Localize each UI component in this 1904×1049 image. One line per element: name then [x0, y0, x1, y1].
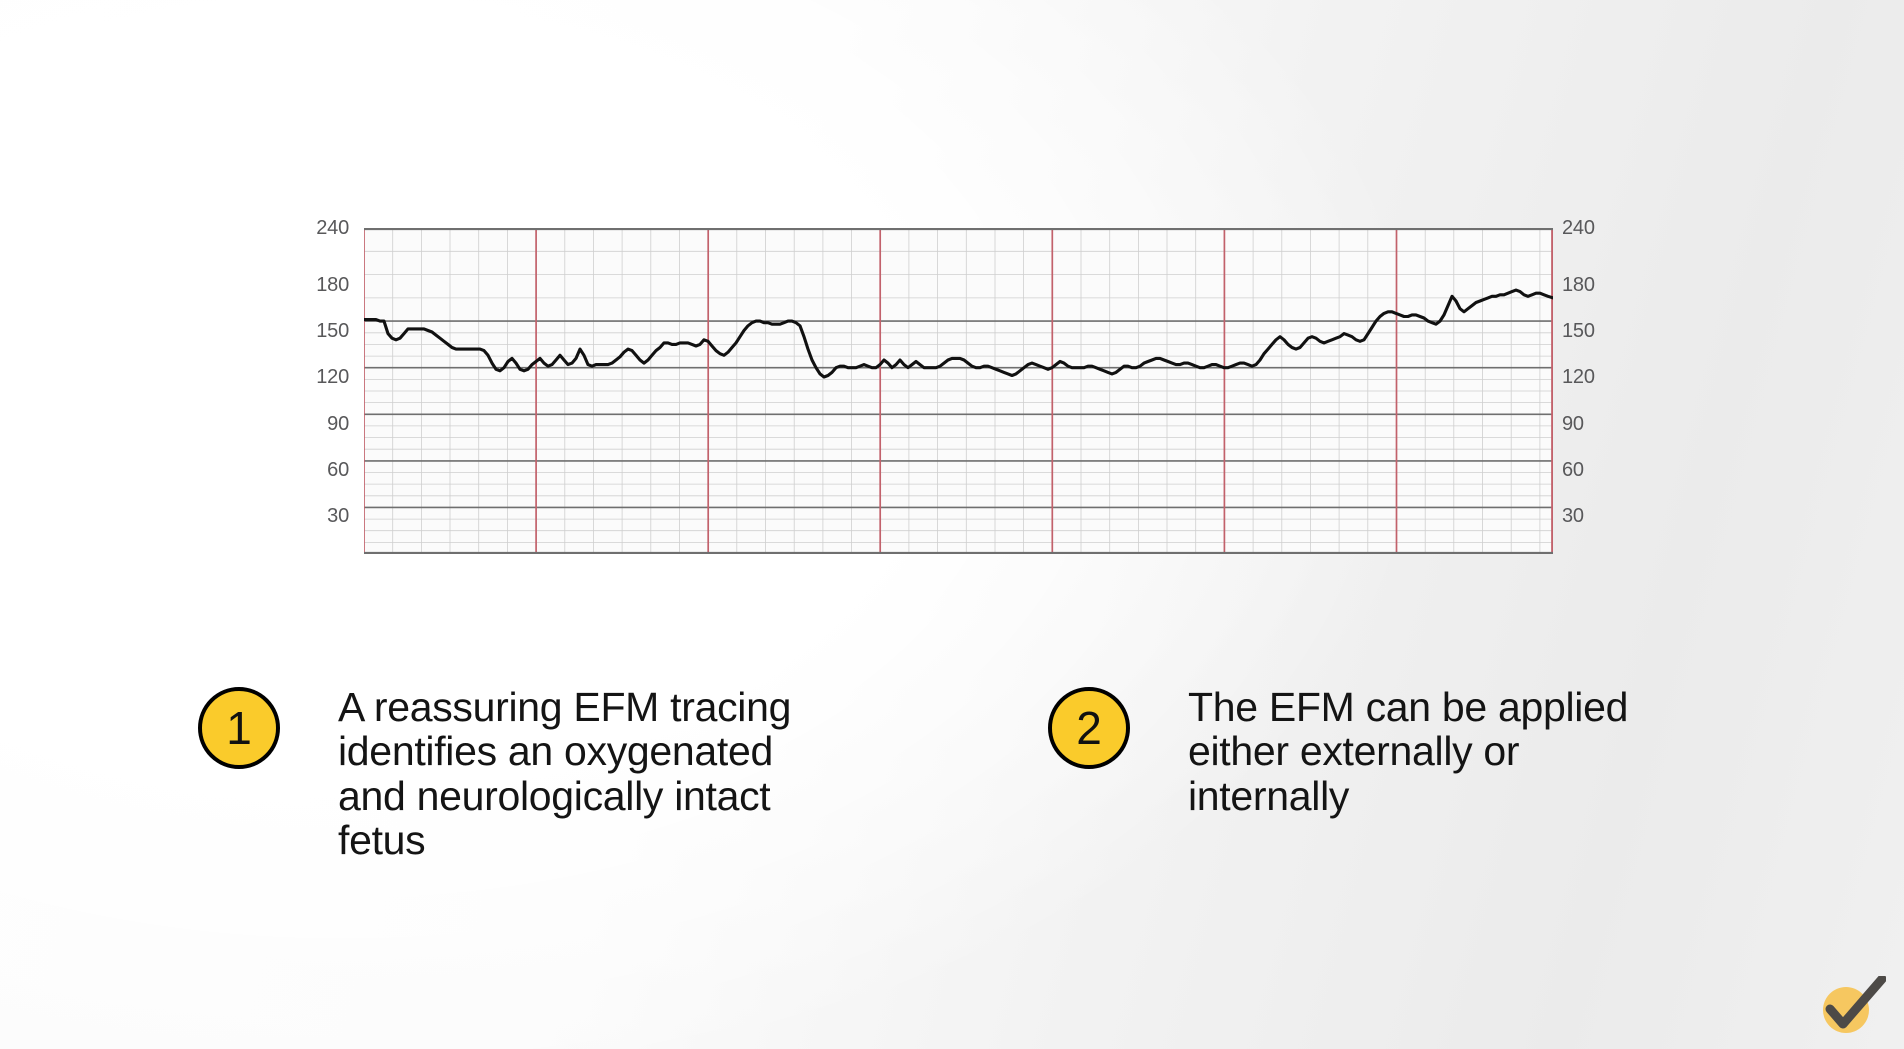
y-axis-right-tick-150: 150	[1562, 321, 1622, 341]
y-axis-right-tick-90: 90	[1562, 414, 1622, 434]
y-axis-left-tick-180: 180	[289, 275, 349, 295]
efm-tracing-chart: 240 180 150 120 90 60 30 240 180 150 120…	[317, 215, 1589, 567]
y-axis-left-tick-90: 90	[289, 414, 349, 434]
chart-plot-area	[364, 228, 1553, 554]
bullet-text-2: The EFM can be applied either externally…	[1188, 685, 1648, 818]
bullet-item-1: 1 A reassuring EFM tracing identifies an…	[198, 685, 798, 862]
y-axis-right-tick-120: 120	[1562, 367, 1622, 387]
bullet-number-badge-2: 2	[1048, 687, 1130, 769]
y-axis-right-tick-30: 30	[1562, 506, 1622, 526]
bullet-item-2: 2 The EFM can be applied either external…	[1048, 685, 1648, 818]
y-axis-left-tick-30: 30	[289, 506, 349, 526]
y-axis-right-tick-240: 240	[1562, 218, 1622, 238]
bullet-text-1: A reassuring EFM tracing identifies an o…	[338, 685, 798, 862]
fetal-heart-rate-trace	[364, 228, 1553, 554]
y-axis-right-tick-60: 60	[1562, 460, 1622, 480]
y-axis-left-tick-150: 150	[289, 321, 349, 341]
y-axis-left-tick-240: 240	[289, 218, 349, 238]
y-axis-left-tick-60: 60	[289, 460, 349, 480]
checkmark-badge-icon	[1816, 976, 1886, 1038]
bullet-number-badge-1: 1	[198, 687, 280, 769]
y-axis-left-tick-120: 120	[289, 367, 349, 387]
y-axis-right-tick-180: 180	[1562, 275, 1622, 295]
